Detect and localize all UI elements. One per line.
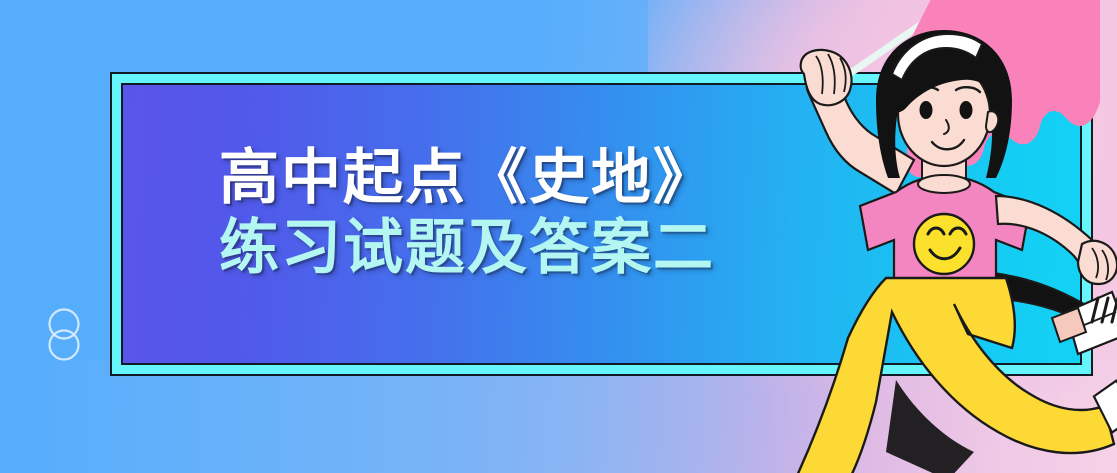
background-bottom-band — [0, 359, 1117, 473]
title-frame-outer: 高中起点《史地》 练习试题及答案二 — [110, 72, 1093, 376]
title-frame-inner: 高中起点《史地》 练习试题及答案二 — [121, 83, 1082, 365]
title-line-1: 高中起点《史地》 — [219, 143, 839, 213]
page-title: 高中起点《史地》 练习试题及答案二 — [219, 143, 839, 283]
banner-root: 高中起点《史地》 练习试题及答案二 — [0, 0, 1117, 473]
title-line-2: 练习试题及答案二 — [219, 213, 839, 283]
figure-eight-rings-icon — [44, 307, 84, 363]
